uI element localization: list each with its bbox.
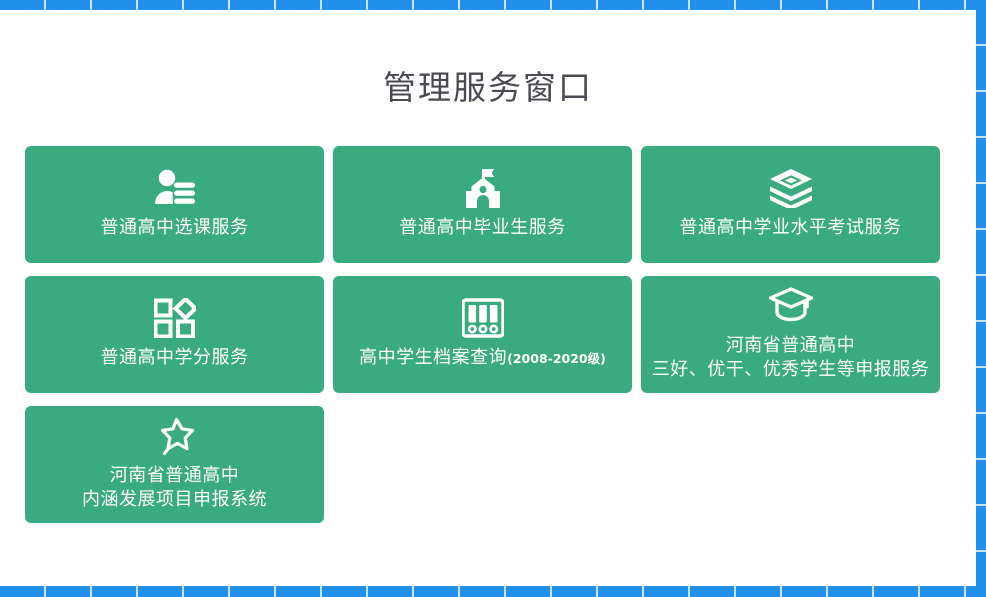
content-area: 管理服务窗口 普通高中选课服务普通高中毕业生服务普通高中学业水平考试服务普通高中… (0, 10, 976, 586)
service-card-title-text: 高中学生档案查询 (359, 346, 507, 369)
service-card-title: 河南省普通高中 (110, 464, 240, 487)
service-card-title-suffix: (2008-2020级) (507, 351, 606, 367)
service-card-title-text: 普通高中学业水平考试服务 (680, 216, 902, 239)
archive-binders-icon (462, 296, 504, 340)
page-surface: 管理服务窗口 普通高中选课服务普通高中毕业生服务普通高中学业水平考试服务普通高中… (0, 10, 976, 586)
service-card-subtitle: 三好、优干、优秀学生等申报服务 (652, 358, 930, 381)
service-card-labels: 高中学生档案查询(2008-2020级) (359, 346, 606, 369)
service-card[interactable]: 普通高中毕业生服务 (333, 146, 632, 263)
right-border-ticks (976, 0, 986, 597)
decorative-bottom-border (0, 586, 986, 597)
user-list-icon (154, 166, 196, 210)
service-card-title-text: 普通高中选课服务 (101, 216, 249, 239)
service-card[interactable]: 河南省普通高中内涵发展项目申报系统 (25, 406, 324, 523)
service-card-labels: 普通高中毕业生服务 (399, 216, 566, 239)
service-card-title: 高中学生档案查询(2008-2020级) (359, 346, 606, 369)
app-frame: 管理服务窗口 普通高中选课服务普通高中毕业生服务普通高中学业水平考试服务普通高中… (0, 0, 986, 597)
service-card-subtitle: 内涵发展项目申报系统 (82, 488, 267, 511)
layers-stack-icon (769, 166, 813, 210)
service-card-title: 普通高中学分服务 (101, 346, 249, 369)
decorative-top-border (0, 0, 986, 10)
service-card-labels: 普通高中学分服务 (101, 346, 249, 369)
service-card[interactable]: 高中学生档案查询(2008-2020级) (333, 276, 632, 393)
apps-grid-icon (154, 296, 196, 340)
service-card[interactable]: 普通高中选课服务 (25, 146, 324, 263)
school-building-icon (463, 166, 503, 210)
service-card-title-text: 河南省普通高中 (110, 464, 240, 487)
service-card-grid: 普通高中选课服务普通高中毕业生服务普通高中学业水平考试服务普通高中学分服务高中学… (25, 146, 950, 523)
service-card[interactable]: 普通高中学分服务 (25, 276, 324, 393)
service-card-labels: 河南省普通高中内涵发展项目申报系统 (82, 464, 267, 510)
service-card-title-text: 河南省普通高中 (726, 334, 856, 357)
star-sparkle-icon (155, 414, 195, 458)
page-title: 管理服务窗口 (0, 66, 976, 110)
service-card-title-text: 普通高中毕业生服务 (399, 216, 566, 239)
service-card-labels: 普通高中学业水平考试服务 (680, 216, 902, 239)
top-border-ticks (0, 0, 986, 10)
service-card-title: 普通高中毕业生服务 (399, 216, 566, 239)
service-card-title: 普通高中选课服务 (101, 216, 249, 239)
service-card-labels: 河南省普通高中三好、优干、优秀学生等申报服务 (652, 334, 930, 380)
service-card[interactable]: 河南省普通高中三好、优干、优秀学生等申报服务 (641, 276, 940, 393)
service-card[interactable]: 普通高中学业水平考试服务 (641, 146, 940, 263)
service-card-title: 河南省普通高中 (726, 334, 856, 357)
service-card-title-text: 普通高中学分服务 (101, 346, 249, 369)
service-card-labels: 普通高中选课服务 (101, 216, 249, 239)
graduation-cap-icon (769, 284, 813, 328)
service-card-title: 普通高中学业水平考试服务 (680, 216, 902, 239)
bottom-border-ticks (0, 586, 986, 597)
decorative-right-border (976, 0, 986, 597)
